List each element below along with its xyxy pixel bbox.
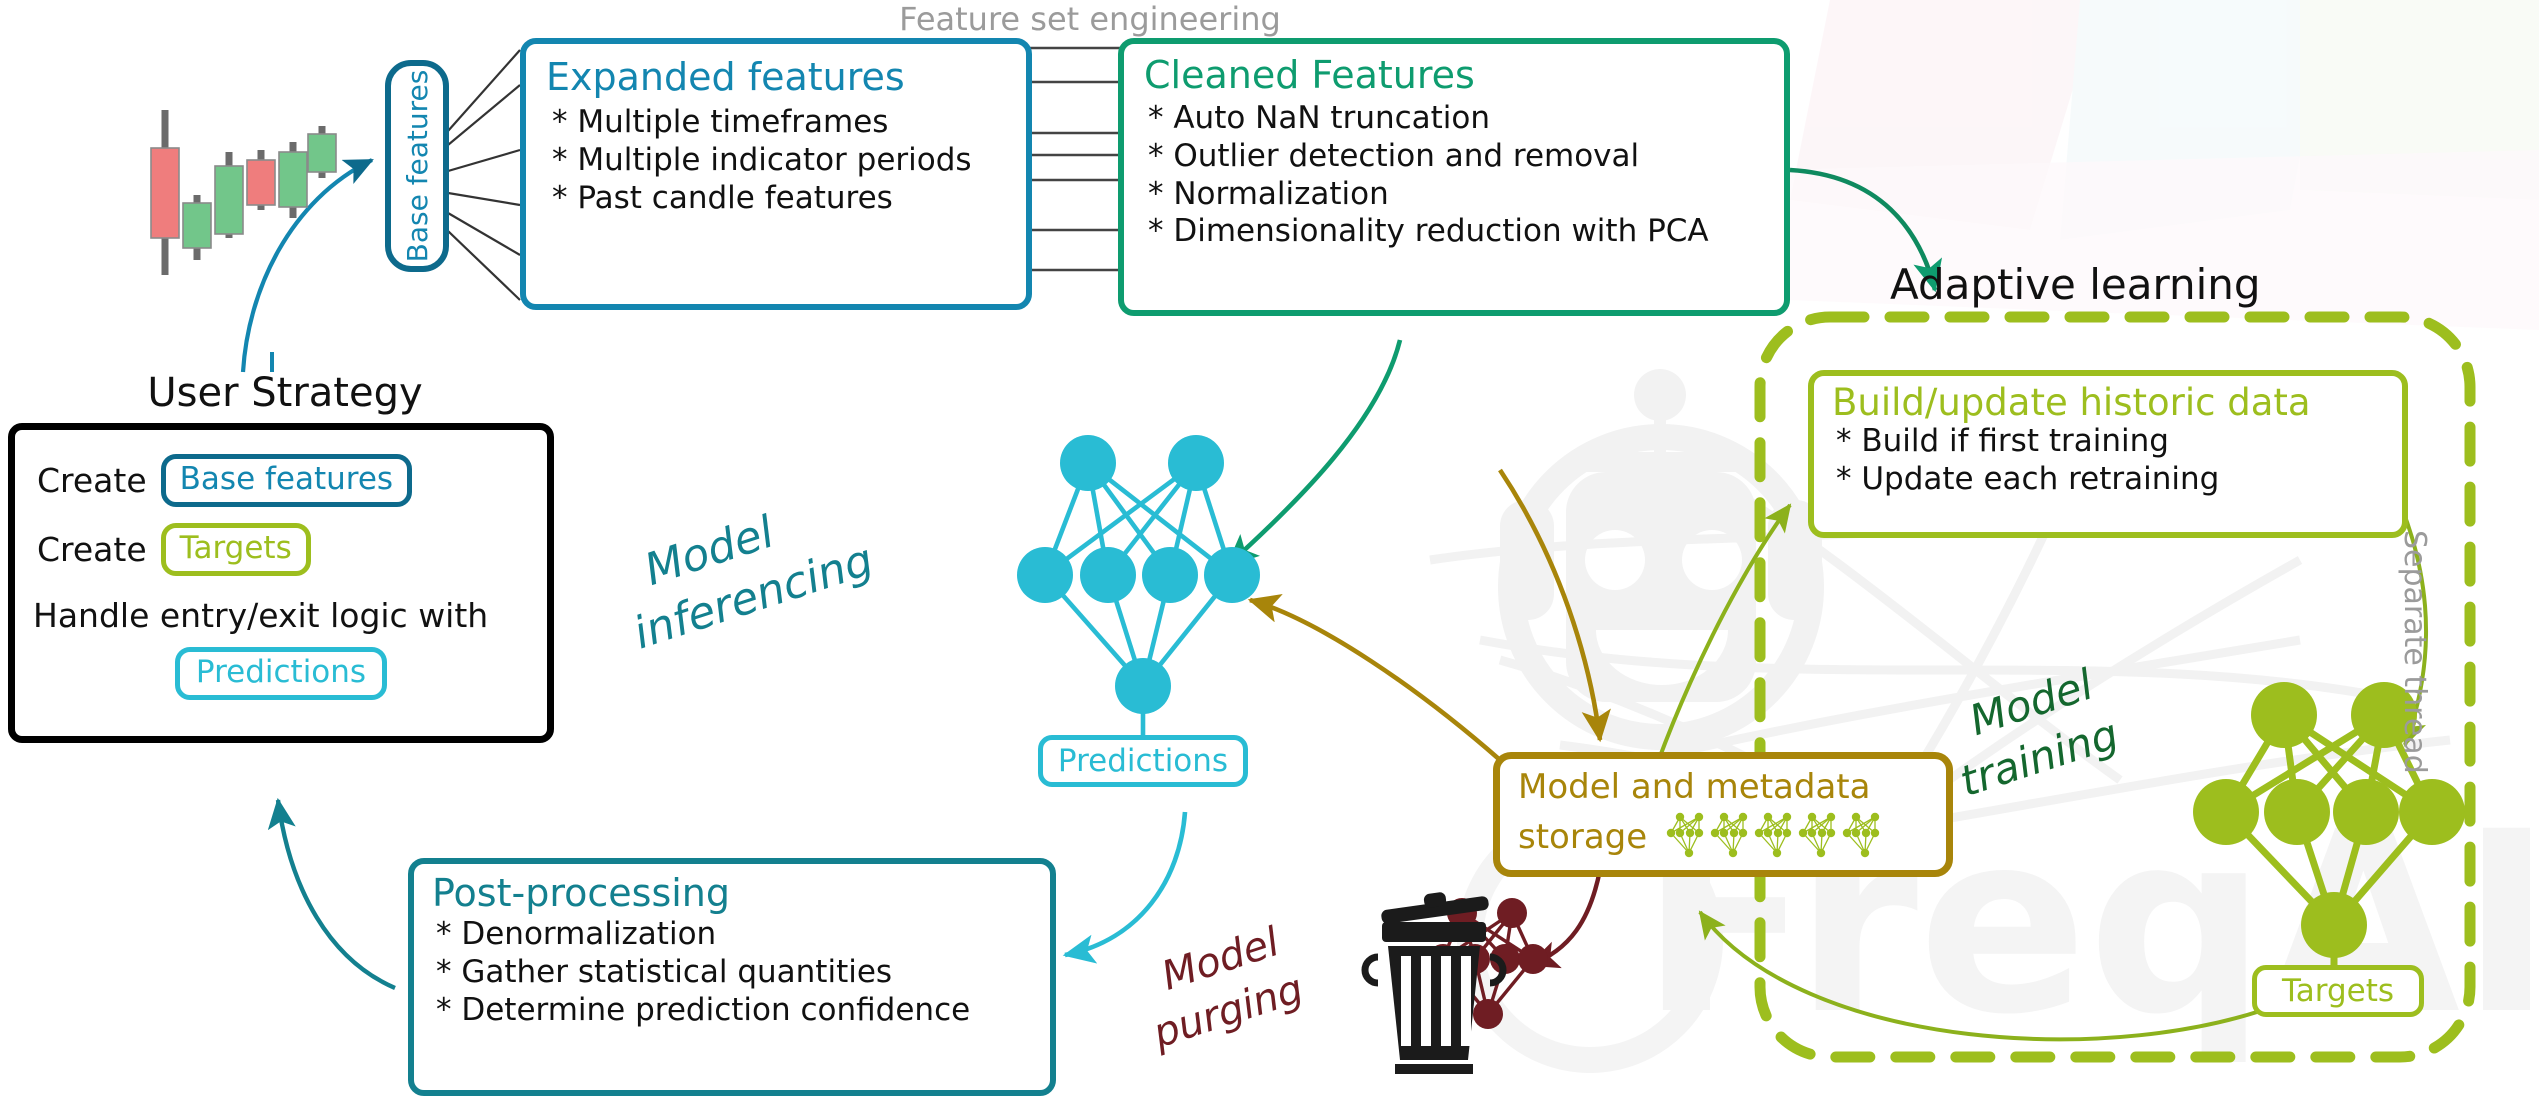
rungs-expanded-to-cleaned xyxy=(1030,48,1120,270)
freqai-architecture-diagram: FreqAI xyxy=(0,0,2539,1104)
separate-thread-label: Separate thread xyxy=(2392,530,2432,870)
cleaned-features-bullet: * Normalization xyxy=(1148,176,1784,214)
post-processing-box[interactable]: Post-processing * Denormalization * Gath… xyxy=(408,858,1056,1096)
historic-data-bullet: * Build if first training xyxy=(1836,423,2402,461)
candlestick-chart xyxy=(140,70,340,310)
targets-pill-training[interactable]: Targets xyxy=(2252,965,2424,1017)
user-strategy-create-label-2: Create xyxy=(37,530,147,569)
cleaned-features-bullet: * Outlier detection and removal xyxy=(1148,138,1784,176)
expanded-features-box[interactable]: Expanded features * Multiple timeframes … xyxy=(520,38,1032,310)
inference-neural-net-nodes xyxy=(1017,435,1260,714)
base-features-pill[interactable]: Base features xyxy=(161,454,412,507)
predictions-pill-strategy[interactable]: Predictions xyxy=(175,647,387,700)
targets-pill[interactable]: Targets xyxy=(161,523,311,576)
historic-data-title: Build/update historic data xyxy=(1832,384,2402,421)
model-storage-box[interactable]: Model and metadata storage xyxy=(1493,752,1953,877)
predictions-pill[interactable]: Predictions xyxy=(1038,735,1248,787)
expanded-features-bullet: * Past candle features xyxy=(552,180,1026,218)
historic-data-bullet: * Update each retraining xyxy=(1836,461,2402,499)
predictions-pill-label: Predictions xyxy=(1058,743,1228,779)
adaptive-learning-title: Adaptive learning xyxy=(1890,260,2390,312)
expanded-features-bullet: * Multiple timeframes xyxy=(552,104,1026,142)
model-storage-line1: Model and metadata xyxy=(1518,767,1946,807)
user-strategy-title: User Strategy xyxy=(75,370,495,416)
targets-pill-label: Targets xyxy=(2282,973,2394,1009)
arrow-cleaned-to-inference xyxy=(1228,340,1400,565)
post-processing-bullet: * Determine prediction confidence xyxy=(436,992,1050,1030)
expanded-features-bullet: * Multiple indicator periods xyxy=(552,142,1026,180)
cleaned-features-bullet: * Dimensionality reduction with PCA xyxy=(1148,213,1784,251)
mini-nets-icon xyxy=(1665,809,1895,865)
cleaned-features-bullet: * Auto NaN truncation xyxy=(1148,100,1784,138)
post-processing-bullet: * Denormalization xyxy=(436,916,1050,954)
user-strategy-box[interactable]: Create Base features Create Targets Hand… xyxy=(8,423,554,743)
base-features-label: Base features xyxy=(391,66,443,266)
arrow-predictions-to-postprocessing xyxy=(1065,812,1185,955)
user-strategy-entry-exit-label: Handle entry/exit logic with xyxy=(33,596,547,635)
cleaned-features-box[interactable]: Cleaned Features * Auto NaN truncation *… xyxy=(1118,38,1790,316)
arrow-storage-to-inference xyxy=(1250,600,1500,760)
post-processing-bullet: * Gather statistical quantities xyxy=(436,954,1050,992)
user-strategy-create-label-1: Create xyxy=(37,461,147,500)
historic-data-box[interactable]: Build/update historic data * Build if fi… xyxy=(1808,370,2408,538)
separate-thread-text: Separate thread xyxy=(2397,530,2432,774)
arrow-targets-to-storage xyxy=(1700,912,2290,1039)
model-storage-line2: storage xyxy=(1518,817,1647,857)
arrow-postprocessing-to-strategy xyxy=(278,800,395,988)
arrow-adaptive-to-storage xyxy=(1500,470,1600,740)
post-processing-title: Post-processing xyxy=(432,874,1050,912)
expanded-features-title: Expanded features xyxy=(546,58,1026,96)
cleaned-features-title: Cleaned Features xyxy=(1144,56,1784,94)
base-features-vertical-box[interactable]: Base features xyxy=(385,60,449,272)
